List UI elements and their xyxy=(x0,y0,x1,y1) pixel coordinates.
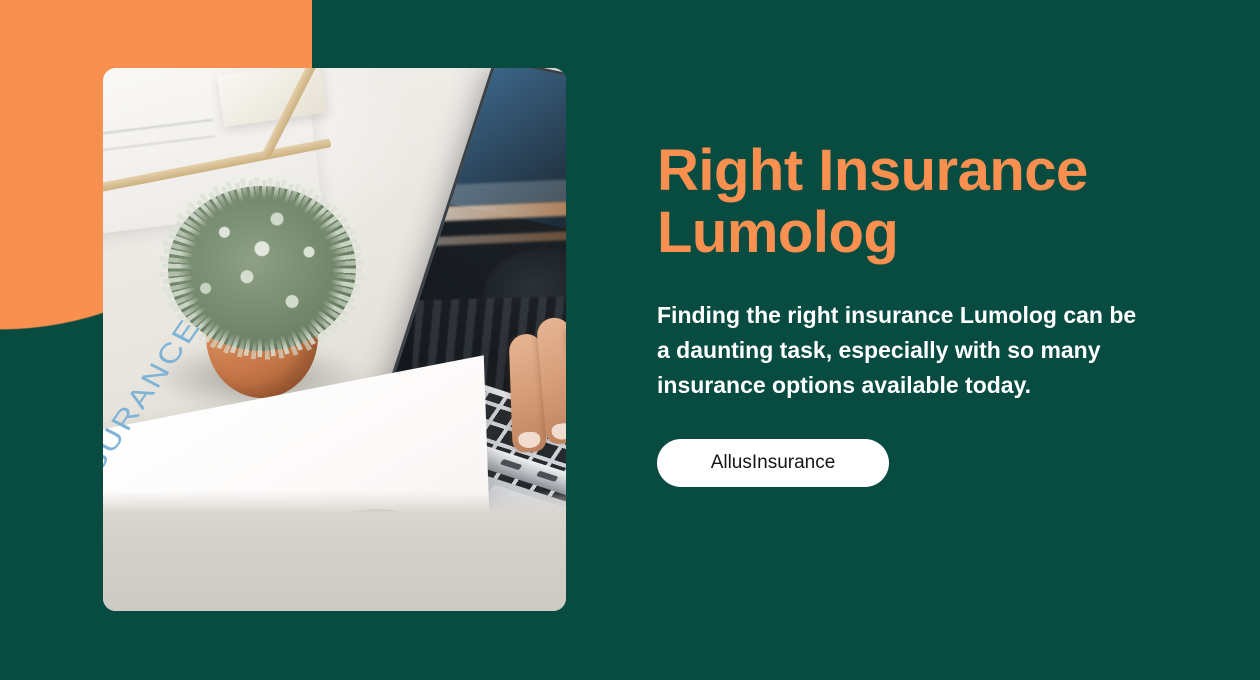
potted-plant-icon xyxy=(158,178,358,408)
content-column: Right Insurance Lumolog Finding the righ… xyxy=(657,140,1157,487)
page-description: Finding the right insurance Lumolog can … xyxy=(657,298,1149,403)
desk-surface xyxy=(103,491,566,611)
hero-photo-card: INSURANCE xyxy=(103,68,566,611)
page-title: Right Insurance Lumolog xyxy=(657,140,1157,264)
desk-photo: INSURANCE xyxy=(103,68,566,611)
promo-banner: INSURANCE Right xyxy=(0,0,1260,680)
allus-insurance-button[interactable]: AllusInsurance xyxy=(657,439,889,487)
